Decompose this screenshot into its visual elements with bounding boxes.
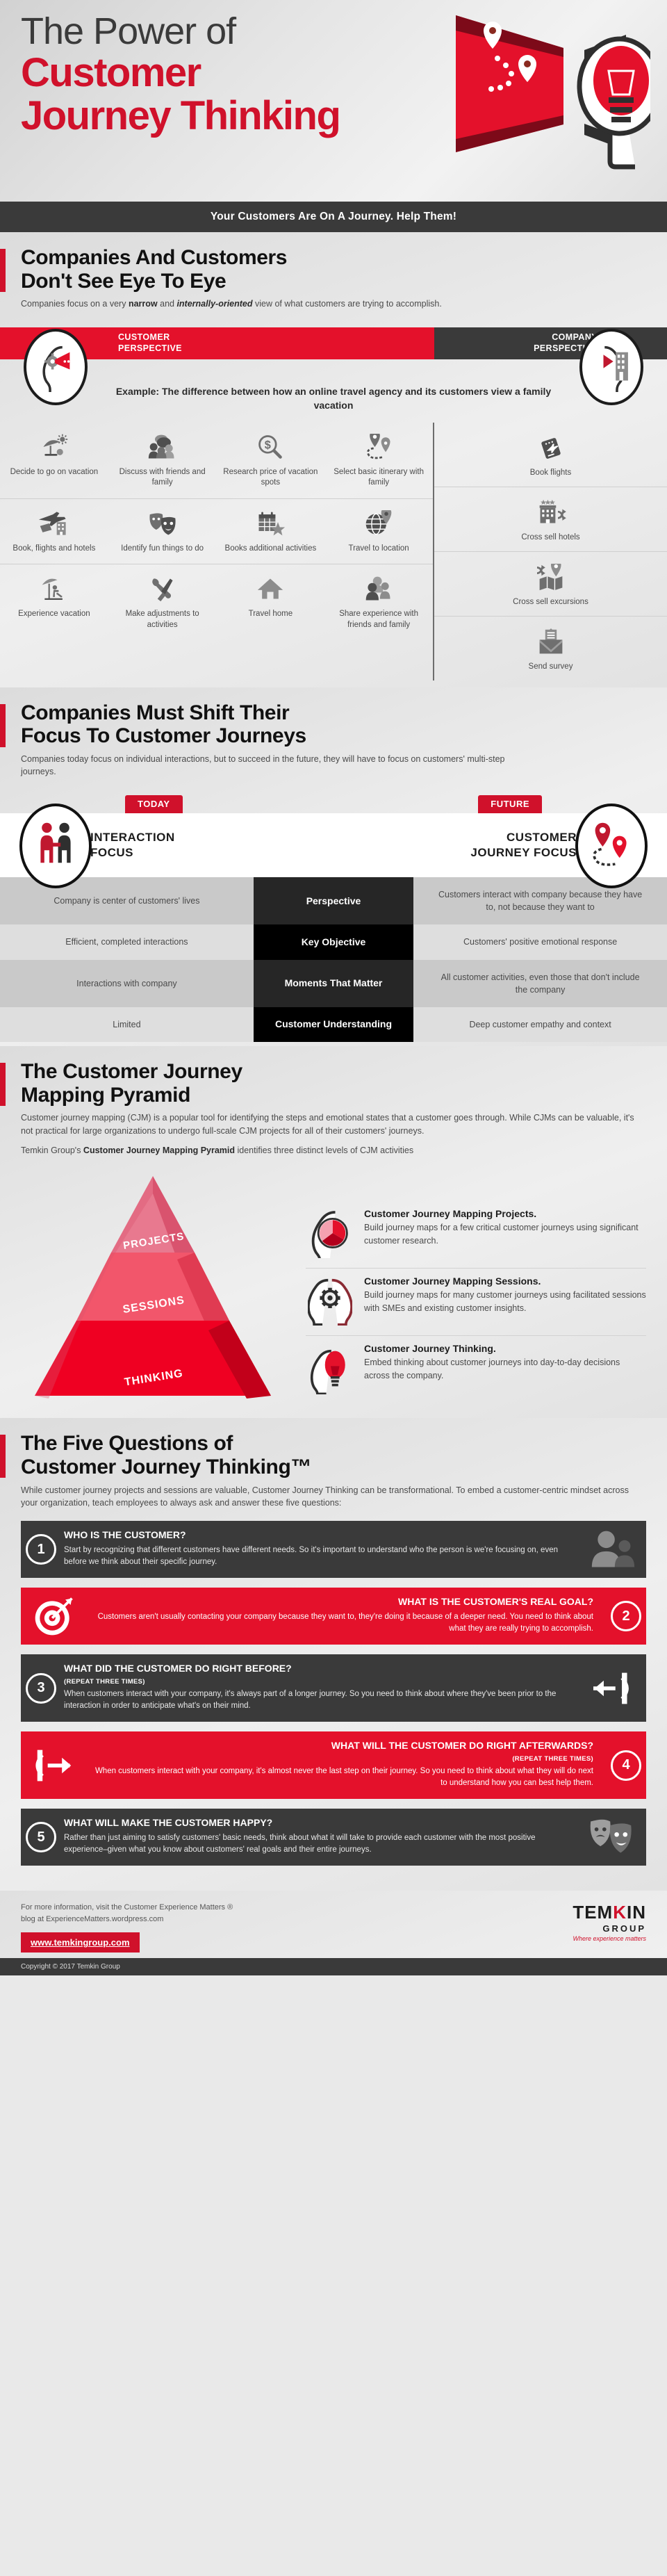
section1-heading-line1: Companies And Customers [21,246,646,270]
pyramid-level-title: Customer Journey Thinking. [364,1343,646,1354]
pyramid-graphic: PROJECTS SESSIONS THINKING [7,1169,299,1399]
question-body: WHAT WILL THE CUSTOMER DO RIGHT AFTERWAR… [88,1731,606,1799]
journey-step: Identify fun things to do [108,499,217,564]
cell-future: Deep customer empathy and context [413,1007,667,1042]
section1-heading-line2: Don't See Eye To Eye [21,270,646,293]
question-number-wrap: 1 [21,1521,61,1578]
pyramid-level-text: Customer Journey Thinking. Embed thinkin… [364,1343,646,1394]
theater-masks-icon [113,507,213,539]
hero-section: The Power of Customer Journey Thinking [0,0,667,202]
journey-step-label: Discuss with friends and family [120,468,206,487]
question-row-1: 1 WHO IS THE CUSTOMER? Start by recogniz… [21,1521,646,1578]
question-number: 3 [26,1673,56,1704]
cell-dimension: Customer Understanding [254,1007,413,1042]
person-profile-icon [579,1521,646,1578]
head-building-company-icon [579,329,643,405]
question-number-wrap: 2 [606,1588,646,1645]
cell-today: Efficient, completed interactions [0,924,254,959]
pyramid-level: Customer Journey Mapping Sessions. Build… [306,1269,646,1336]
s3-p2-a: Temkin Group's [21,1146,83,1155]
footer-line2: blog at ExperienceMatters.wordpress.com [21,1914,233,1925]
s3-p2-c: identifies three distinct levels of CJM … [235,1146,413,1155]
journey-step: Experience vacation [0,564,108,640]
section4-head: The Five Questions of Customer Journey T… [0,1418,667,1517]
today-future-tags: TODAY FUTURE [0,795,667,813]
temkin-group-logo: TEMKIN GROUP Where experience matters [573,1902,646,1942]
section2-heading-line1: Companies Must Shift Their [21,701,646,725]
question-body: WHAT DID THE CUSTOMER DO RIGHT BEFORE? (… [61,1654,579,1722]
journey-step: Select basic itinerary with family [324,423,433,498]
today-title-line2: FOCUS [90,845,175,861]
company-step-label: Cross sell hotels [521,533,579,541]
customer-perspective-line2: PERSPECTIVE [118,343,182,354]
head-gear-icon [306,1275,354,1326]
cell-future: Customers' positive emotional response [413,924,667,959]
question-title: WHAT WILL MAKE THE CUSTOMER HAPPY? [64,1817,567,1829]
tag-today: TODAY [125,795,183,813]
cell-dimension: Moments That Matter [254,960,413,1007]
section4-intro: While customer journey projects and sess… [21,1484,646,1510]
question-desc: Customers aren't usually contacting your… [90,1611,593,1636]
journey-row: Experience vacation Make adjustments to … [0,564,433,640]
question-number: 2 [611,1601,641,1631]
company-step: Cross sell hotels [434,487,667,552]
question-subtitle: (REPEAT THREE TIMES) [90,1755,593,1763]
cell-future: All customer activities, even those that… [413,960,667,1007]
envelope-survey-icon [438,626,663,658]
question-body: WHAT IS THE CUSTOMER'S REAL GOAL? Custom… [88,1588,606,1645]
example-description: Example: The difference between how an o… [0,380,667,423]
question-row-2: WHAT IS THE CUSTOMER'S REAL GOAL? Custom… [21,1588,646,1645]
copyright-bar: Copyright © 2017 Temkin Group [0,1958,667,1975]
cell-dimension: Key Objective [254,924,413,959]
svg-text:$: $ [265,439,271,451]
pyramid-level-desc: Build journey maps for many customer jou… [364,1289,646,1314]
questions-list: 1 WHO IS THE CUSTOMER? Start by recogniz… [0,1517,667,1891]
section1-head: Companies And Customers Don't See Eye To… [0,232,667,318]
question-row-5: 5 WHAT WILL MAKE THE CUSTOMER HAPPY? Rat… [21,1809,646,1866]
question-row-4: WHAT WILL THE CUSTOMER DO RIGHT AFTERWAR… [21,1731,646,1799]
customer-journey-column: Decide to go on vacation [0,423,434,680]
pyramid-level-title: Customer Journey Mapping Sessions. [364,1275,646,1287]
logo-k-accent: K [613,1902,627,1923]
logo-main: TEMKIN [573,1902,646,1923]
journey-step-label: Travel to location [349,544,409,553]
arrow-into-door-icon [579,1654,646,1722]
s3-p2-bold: Customer Journey Mapping Pyramid [83,1146,235,1155]
section3-para2: Temkin Group's Customer Journey Mapping … [21,1144,646,1157]
infographic-page: The Power of Customer Journey Thinking [0,0,667,1975]
pyramid-level-title: Customer Journey Mapping Projects. [364,1208,646,1219]
pyramid-level-desc: Embed thinking about customer journeys i… [364,1356,646,1381]
boarding-pass-icon [438,432,663,464]
people-chat-icon [113,431,213,463]
company-step-label: Cross sell excursions [513,598,588,606]
today-title-line1: INTERACTION [90,830,175,845]
question-title: WHAT WILL THE CUSTOMER DO RIGHT AFTERWAR… [90,1740,593,1752]
question-number-wrap: 4 [606,1731,646,1799]
section-pyramid: The Customer Journey Mapping Pyramid Cus… [0,1046,667,1418]
pyramid-level: Customer Journey Mapping Projects. Build… [306,1201,646,1269]
journey-step: Book, flights and hotels [0,499,108,564]
journey-row: Decide to go on vacation [0,423,433,499]
table-row: Limited Customer Understanding Deep cust… [0,1007,667,1042]
journey-step: Travel to location [324,499,433,564]
today-future-wrap: TODAY FUTURE INTERACTION FOCUS CUSTOMER … [0,795,667,1046]
customer-perspective-label: CUSTOMER PERSPECTIVE [118,332,182,354]
question-title: WHAT IS THE CUSTOMER'S REAL GOAL? [90,1596,593,1608]
company-step: Send survey [434,617,667,680]
perspective-bar-wrap: CUSTOMER PERSPECTIVE COMPANY PERSPECTIVE [0,327,667,380]
question-number-wrap: 3 [21,1654,61,1722]
cell-future: Customers interact with company because … [413,877,667,924]
journey-step-label: Book, flights and hotels [13,544,95,553]
section-five-questions: The Five Questions of Customer Journey T… [0,1418,667,1891]
section1-intro: Companies focus on a very narrow and int… [21,297,507,311]
logo-tagline: Where experience matters [573,1935,646,1942]
journey-step: Share experience with friends and family [324,564,433,640]
globe-pin-icon [329,507,429,539]
section3-para1: Customer journey mapping (CJM) is a popu… [21,1111,646,1138]
section3-head: The Customer Journey Mapping Pyramid Cus… [0,1046,667,1164]
question-desc: Start by recognizing that different cust… [64,1544,567,1569]
question-desc: When customers interact with your compan… [64,1688,567,1713]
beach-umbrella-icon [4,431,104,463]
map-shuffle-pin-icon [438,562,663,594]
section3-heading-line1: The Customer Journey [21,1060,646,1084]
table-row: Company is center of customers' lives Pe… [0,877,667,924]
plane-book-hotel-icon [4,507,104,539]
tools-icon [113,573,213,605]
cell-today: Company is center of customers' lives [0,877,254,924]
pyramid-level: Customer Journey Thinking. Embed thinkin… [306,1336,646,1404]
s1-intro-narrow: narrow [129,299,158,309]
pyramid-area: PROJECTS SESSIONS THINKING [0,1164,667,1418]
hero-banner: Your Customers Are On A Journey. Help Th… [0,202,667,232]
question-number: 5 [26,1822,56,1852]
question-subtitle: (REPEAT THREE TIMES) [64,1678,567,1686]
question-body: WHO IS THE CUSTOMER? Start by recognizin… [61,1521,579,1578]
s1-intro-internally: internally-oriented [176,299,252,309]
calendar-star-icon [221,507,321,539]
journey-pins-icon [575,804,648,888]
journey-step: Decide to go on vacation [0,423,108,498]
question-number-wrap: 5 [21,1809,61,1866]
journey-step-label: Select basic itinerary with family [333,468,424,487]
perspective-bar: CUSTOMER PERSPECTIVE COMPANY PERSPECTIVE [0,327,667,359]
journey-step-label: Identify fun things to do [121,544,204,553]
section4-heading-line2: Customer Journey Thinking™ [21,1456,646,1479]
journey-step-label: Travel home [249,610,293,618]
hotel-shuffle-icon [438,497,663,529]
house-icon [221,573,321,605]
journey-step: Discuss with friends and family [108,423,217,498]
section4-heading-line1: The Five Questions of [21,1432,646,1456]
s1-intro-e: view of what customers are trying to acc… [253,299,442,309]
company-step: Book flights [434,423,667,487]
map-pins-route-icon [329,431,429,463]
journey-step-label: Share experience with friends and family [339,610,418,629]
lightbulb-journey-icon [442,10,650,177]
section2-head: Companies Must Shift Their Focus To Cust… [0,687,667,786]
question-row-3: 3 WHAT DID THE CUSTOMER DO RIGHT BEFORE?… [21,1654,646,1722]
journey-step: Travel home [217,564,325,640]
section2-heading-line2: Focus To Customer Journeys [21,724,646,748]
table-row: Interactions with company Moments That M… [0,960,667,1007]
journey-step-label: Research price of vacation spots [223,468,318,487]
journey-step-label: Books additional activities [225,544,317,553]
section3-heading-line2: Mapping Pyramid [21,1084,646,1107]
question-body: WHAT WILL MAKE THE CUSTOMER HAPPY? Rathe… [61,1809,579,1866]
pyramid-levels: Customer Journey Mapping Projects. Build… [306,1169,646,1404]
journey-step: Books additional activities [217,499,325,564]
journey-row: Book, flights and hotels Identify fun th… [0,499,433,565]
s1-intro-c: and [158,299,177,309]
question-title: WHO IS THE CUSTOMER? [64,1529,567,1542]
future-title-line2: JOURNEY FOCUS [470,845,577,861]
today-future-bar: INTERACTION FOCUS CUSTOMER JOURNEY FOCUS [0,813,667,877]
pyramid-level-text: Customer Journey Mapping Sessions. Build… [364,1275,646,1326]
head-gear-customer-icon [24,329,88,405]
tag-future: FUTURE [478,795,542,813]
today-title: INTERACTION FOCUS [90,830,175,861]
question-desc: When customers interact with your compan… [90,1766,593,1790]
s1-intro-a: Companies focus on a very [21,299,129,309]
question-title: WHAT DID THE CUSTOMER DO RIGHT BEFORE? [64,1663,567,1675]
arrow-out-door-icon [21,1731,88,1799]
footer: For more information, visit the Customer… [0,1891,667,1958]
section-shift-focus: Companies Must Shift Their Focus To Cust… [0,687,667,1046]
question-desc: Rather than just aiming to satisfy custo… [64,1832,567,1857]
cell-today: Limited [0,1007,254,1042]
company-step-label: Send survey [529,662,573,671]
pyramid-level-text: Customer Journey Mapping Projects. Build… [364,1208,646,1258]
head-lightbulb-icon [306,1343,354,1394]
pyramid-level-desc: Build journey maps for a few critical cu… [364,1221,646,1246]
beach-chair-icon [4,573,104,605]
customer-perspective-line1: CUSTOMER [118,332,182,343]
cell-dimension: Perspective [254,877,413,924]
journey-step-label: Experience vacation [18,610,90,618]
company-step: Cross sell excursions [434,552,667,617]
question-number: 1 [26,1534,56,1565]
logo-sub: GROUP [573,1923,646,1934]
future-title: CUSTOMER JOURNEY FOCUS [470,830,577,861]
section2-intro: Companies today focus on individual inte… [21,753,507,779]
company-step-label: Book flights [530,468,571,477]
handshake-icon [19,804,92,888]
journey-step: Make adjustments to activities [108,564,217,640]
footer-url-button[interactable]: www.temkingroup.com [21,1932,140,1953]
group-people-icon [329,573,429,605]
cell-today: Interactions with company [0,960,254,1007]
footer-text-block: For more information, visit the Customer… [21,1902,233,1953]
company-journey-column: Book flights Cross [434,423,667,680]
comparison-table: Company is center of customers' lives Pe… [0,877,667,1042]
journey-step: $ Research price of vacation spots [217,423,325,498]
journey-step-label: Make adjustments to activities [126,610,199,629]
question-number: 4 [611,1750,641,1781]
future-title-line1: CUSTOMER [470,830,577,845]
footer-line1: For more information, visit the Customer… [21,1902,233,1914]
magnifier-dollar-icon: $ [221,431,321,463]
journey-grid: Decide to go on vacation [0,423,667,687]
target-dart-icon [21,1588,88,1645]
journey-step-label: Decide to go on vacation [10,468,99,476]
table-row: Efficient, completed interactions Key Ob… [0,924,667,959]
section-companies-customers: Companies And Customers Don't See Eye To… [0,232,667,687]
theater-masks-icon [579,1809,646,1866]
head-piechart-icon [306,1208,354,1258]
